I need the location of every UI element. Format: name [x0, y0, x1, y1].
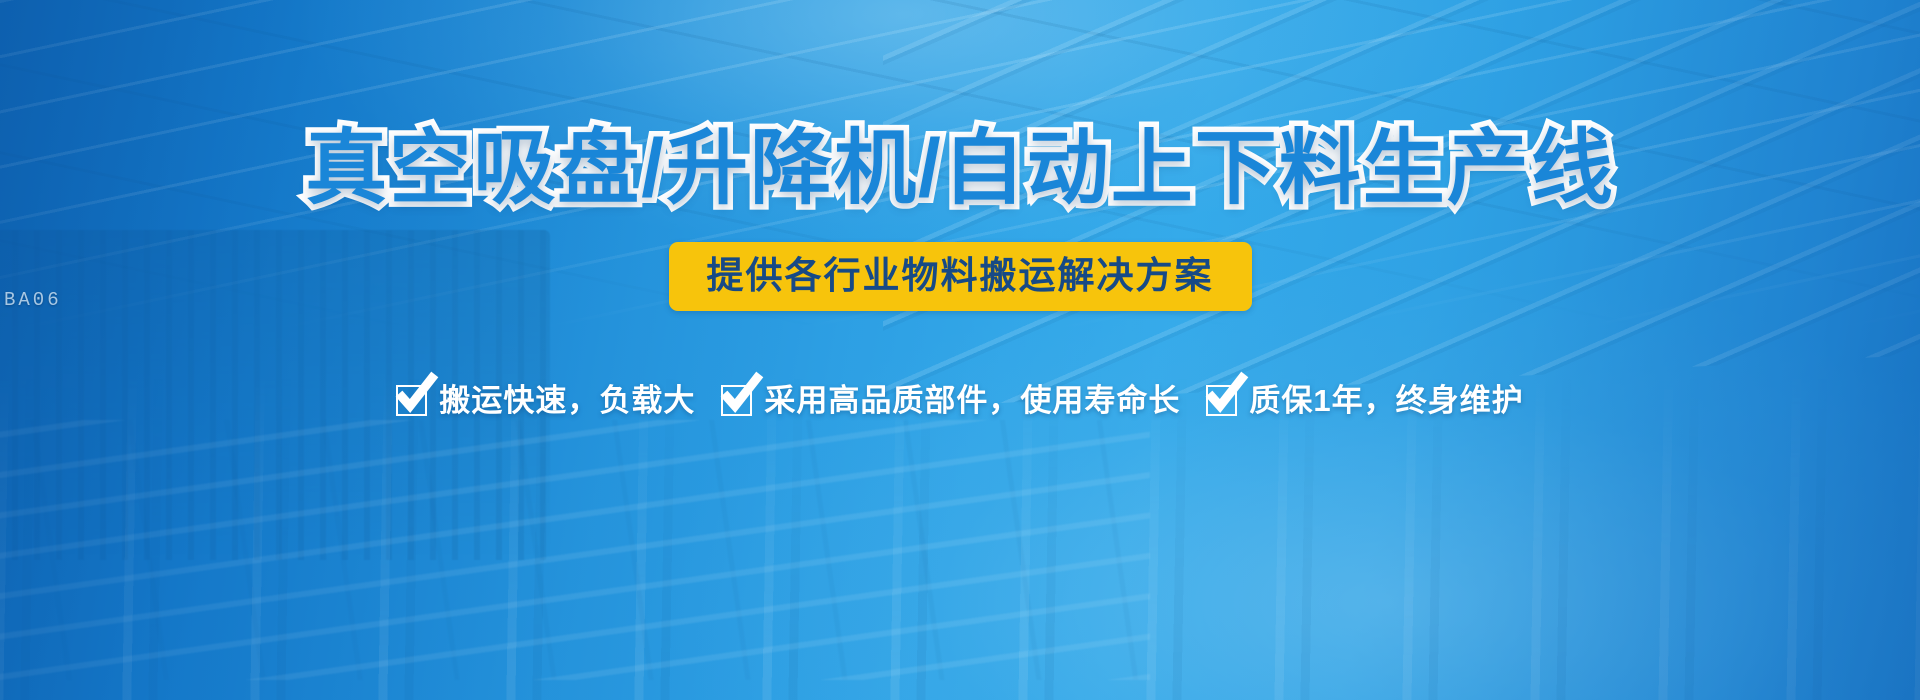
banner-headline: 真空吸盘/升降机/自动上下料生产线 [305, 128, 1615, 210]
feature-item: 采用高品质部件，使用寿命长 [721, 383, 1180, 417]
banner-content: 真空吸盘/升降机/自动上下料生产线 提供各行业物料搬运解决方案 搬运快速，负载大 [0, 0, 1920, 700]
checkbox-checked-icon [396, 383, 430, 417]
feature-label: 采用高品质部件，使用寿命长 [764, 385, 1180, 416]
feature-list: 搬运快速，负载大 采用高品质部件，使用寿命长 质保1 [396, 383, 1523, 417]
promo-banner: BA06 真空吸盘/升降机/自动上下料生产线 提供各行业物料搬运解决方案 搬运快… [0, 0, 1920, 700]
feature-item: 质保1年，终身维护 [1206, 383, 1523, 417]
subtitle-badge: 提供各行业物料搬运解决方案 [669, 242, 1252, 311]
feature-label: 搬运快速，负载大 [439, 385, 695, 416]
checkbox-checked-icon [1206, 383, 1240, 417]
checkbox-checked-icon [721, 383, 755, 417]
feature-label: 质保1年，终身维护 [1249, 385, 1523, 416]
feature-item: 搬运快速，负载大 [396, 383, 695, 417]
